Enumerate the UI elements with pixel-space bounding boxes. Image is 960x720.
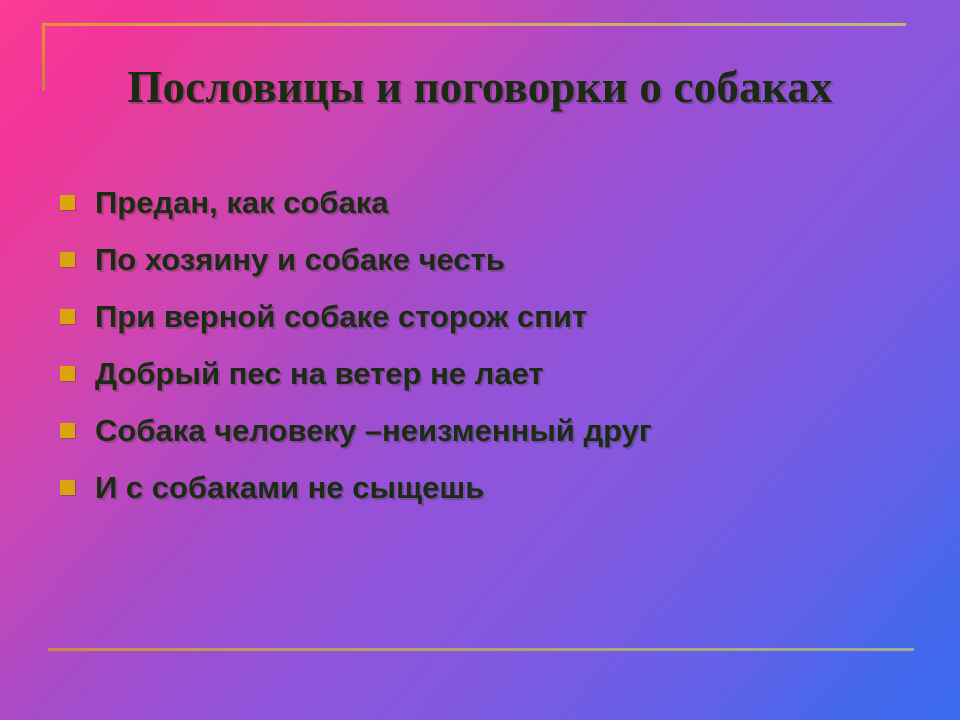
list-item: По хозяину и собаке честь — [60, 231, 940, 288]
square-bullet-icon — [60, 195, 75, 210]
list-item: Собака человеку –неизменный друг — [60, 402, 940, 459]
square-bullet-icon — [60, 252, 75, 267]
list-item-label: И с собаками не сыщешь — [95, 471, 940, 504]
list-item-label: При верной собаке сторож спит — [95, 300, 940, 333]
bottom-gold-rule — [48, 648, 914, 651]
top-gold-rule — [42, 23, 906, 26]
square-bullet-icon — [60, 309, 75, 324]
square-bullet-icon — [60, 423, 75, 438]
list-item: Добрый пес на ветер не лает — [60, 345, 940, 402]
square-bullet-icon — [60, 366, 75, 381]
list-item: И с собаками не сыщешь — [60, 459, 940, 516]
list-item-label: Собака человеку –неизменный друг — [95, 414, 940, 447]
list-item-label: По хозяину и собаке честь — [95, 243, 940, 276]
proverb-list: Предан, как собака По хозяину и собаке ч… — [60, 174, 940, 516]
list-item-label: Добрый пес на ветер не лает — [95, 357, 940, 390]
list-item: При верной собаке сторож спит — [60, 288, 940, 345]
list-item-label: Предан, как собака — [95, 186, 940, 219]
list-item: Предан, как собака — [60, 174, 940, 231]
presentation-slide: Пословицы и поговорки о собаках Предан, … — [0, 0, 960, 720]
slide-title: Пословицы и поговорки о собаках — [0, 64, 960, 111]
square-bullet-icon — [60, 480, 75, 495]
